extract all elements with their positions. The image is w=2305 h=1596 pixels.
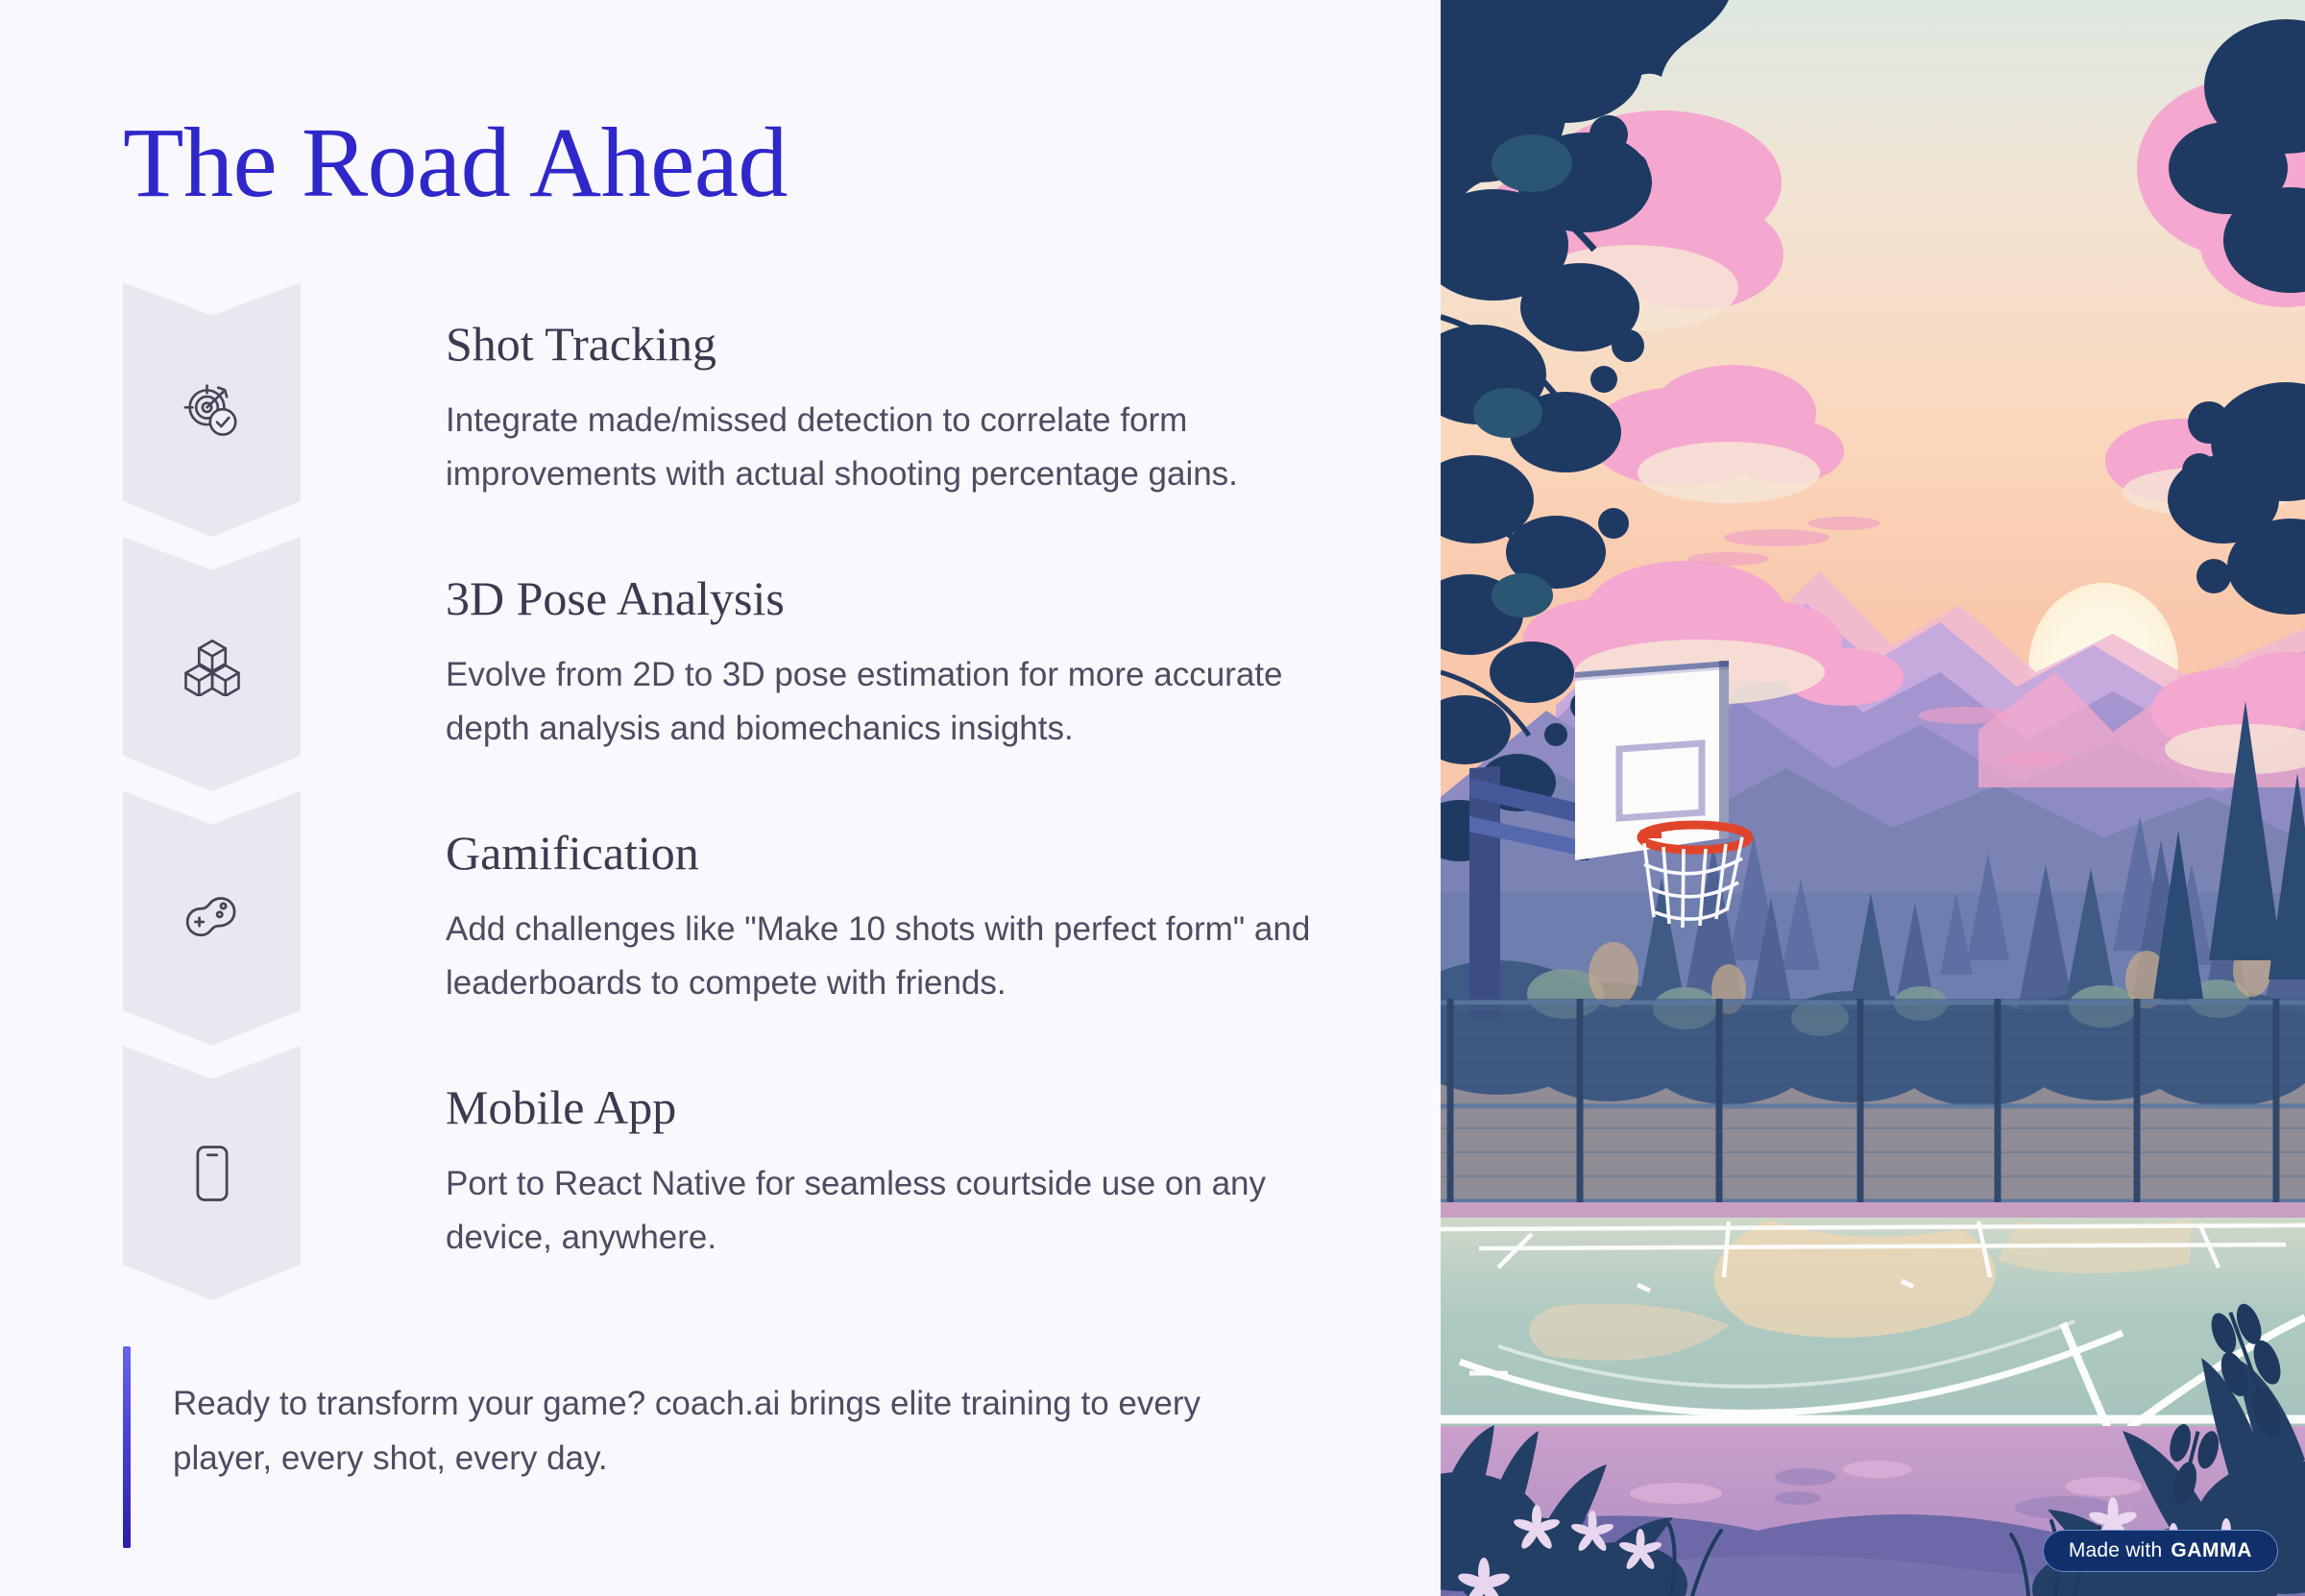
feature-title: Gamification	[446, 826, 1347, 882]
feature-title: Shot Tracking	[446, 317, 1347, 373]
feature-text-block: 3D Pose Analysis Evolve from 2D to 3D po…	[301, 537, 1347, 757]
feature-text-block: Gamification Add challenges like "Make 1…	[301, 791, 1347, 1011]
feature-title: Mobile App	[446, 1080, 1347, 1136]
feature-badge	[123, 537, 301, 791]
made-with-gamma-badge[interactable]: Made with GAMMA	[2043, 1530, 2278, 1572]
smartphone-icon	[181, 1142, 244, 1205]
callout-text: Ready to transform your game? coach.ai b…	[173, 1346, 1306, 1486]
feature-text-block: Shot Tracking Integrate made/missed dete…	[301, 282, 1347, 502]
feature-item: 3D Pose Analysis Evolve from 2D to 3D po…	[123, 537, 1441, 791]
callout-accent-bar	[123, 1346, 131, 1548]
gamma-brand-label: GAMMA	[2171, 1539, 2252, 1562]
gamepad-icon	[181, 887, 244, 951]
slide-root: The Road Ahead	[0, 0, 2305, 1596]
page-title: The Road Ahead	[123, 113, 1441, 213]
target-arrow-check-icon	[181, 378, 244, 442]
feature-badge	[123, 1046, 301, 1300]
feature-badge	[123, 282, 301, 537]
feature-title: 3D Pose Analysis	[446, 571, 1347, 627]
feature-description: Evolve from 2D to 3D pose estimation for…	[446, 648, 1347, 757]
feature-item: Gamification Add challenges like "Make 1…	[123, 791, 1441, 1046]
feature-text-block: Mobile App Port to React Native for seam…	[301, 1046, 1347, 1266]
feature-badge	[123, 791, 301, 1046]
content-pane: The Road Ahead	[0, 0, 1441, 1596]
feature-description: Add challenges like "Make 10 shots with …	[446, 903, 1347, 1011]
three-cubes-icon	[181, 633, 244, 696]
feature-description: Port to React Native for seamless courts…	[446, 1157, 1347, 1266]
gamma-badge-prefix: Made with	[2069, 1539, 2163, 1562]
feature-item: Mobile App Port to React Native for seam…	[123, 1046, 1441, 1300]
feature-item: Shot Tracking Integrate made/missed dete…	[123, 282, 1441, 537]
illustration-pane: Made with GAMMA	[1441, 0, 2305, 1596]
basketball-court-illustration	[1441, 0, 2305, 1596]
feature-list: Shot Tracking Integrate made/missed dete…	[123, 282, 1441, 1300]
feature-description: Integrate made/missed detection to corre…	[446, 394, 1347, 502]
callout-block: Ready to transform your game? coach.ai b…	[123, 1346, 1362, 1486]
